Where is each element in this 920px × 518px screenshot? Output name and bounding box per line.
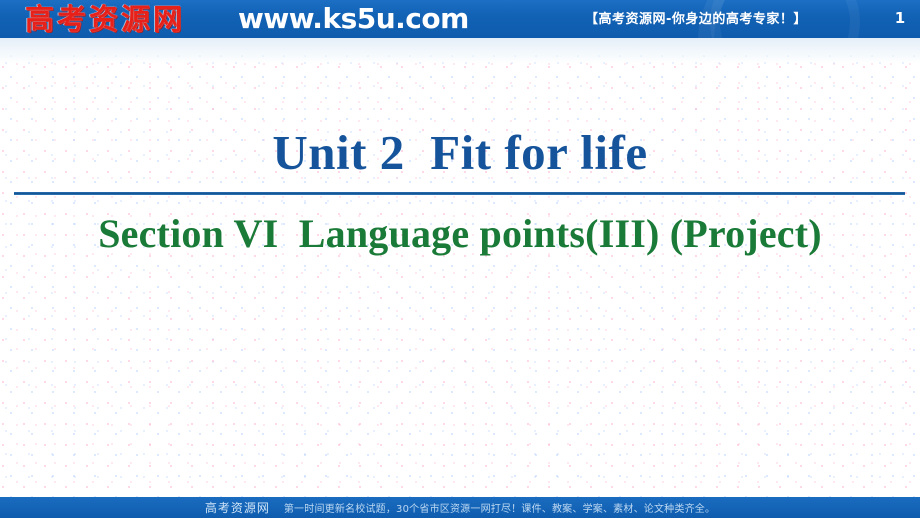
site-logo-chinese: 高考资源网 bbox=[25, 2, 185, 36]
site-logo-url: www.ks5u.com bbox=[238, 2, 469, 36]
slide-page-number: 1 bbox=[890, 9, 910, 27]
presentation-slide: 高考资源网 www.ks5u.com 【高考资源网-你身边的高考专家！】 1 U… bbox=[0, 0, 920, 518]
footer-banner: 高考资源网 第一时间更新名校试题，30个省市区资源一网打尽！课件、教案、学案、素… bbox=[0, 497, 920, 518]
header-fade-strip bbox=[0, 38, 920, 64]
footer-content: 高考资源网 第一时间更新名校试题，30个省市区资源一网打尽！课件、教案、学案、素… bbox=[0, 497, 920, 518]
header-tagline: 【高考资源网-你身边的高考专家！】 bbox=[585, 11, 807, 28]
slide-subtitle: Section VI Language points(III) (Project… bbox=[0, 209, 920, 259]
footer-tagline: 第一时间更新名校试题，30个省市区资源一网打尽！课件、教案、学案、素材、论文种类… bbox=[284, 500, 715, 515]
header-banner: 高考资源网 www.ks5u.com 【高考资源网-你身边的高考专家！】 1 bbox=[0, 0, 920, 38]
slide-title: Unit 2 Fit for life bbox=[0, 124, 920, 182]
footer-brand: 高考资源网 bbox=[205, 499, 270, 516]
title-divider bbox=[14, 192, 905, 195]
